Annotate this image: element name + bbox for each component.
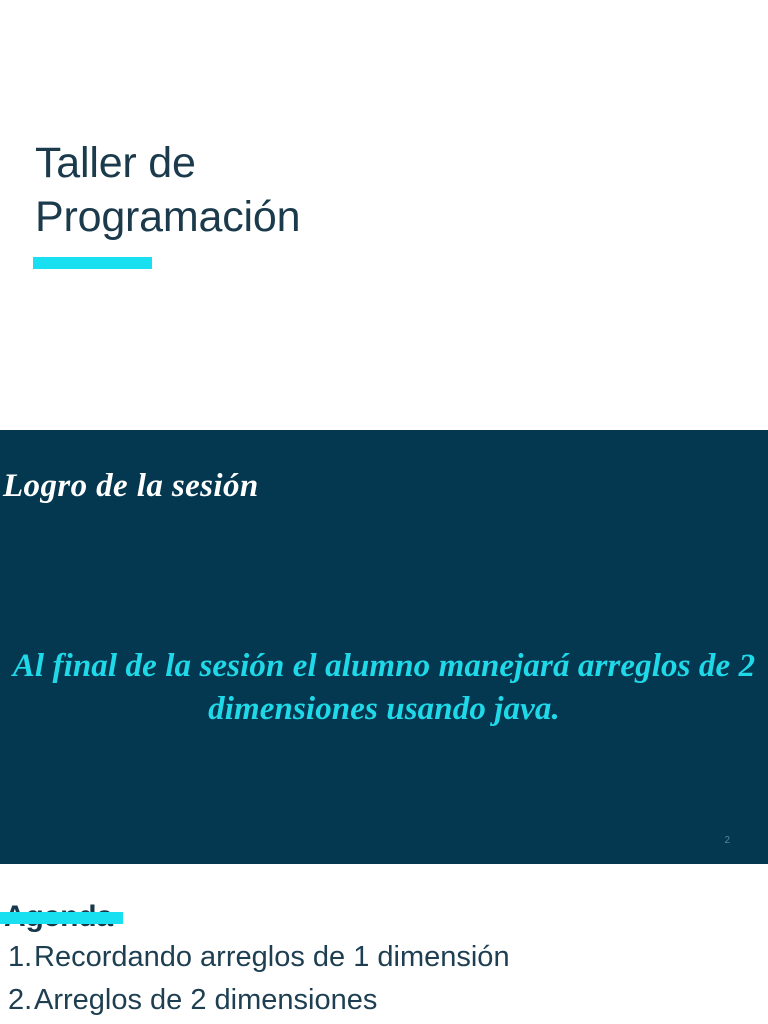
list-item-number: 1. — [0, 936, 34, 979]
agenda-slide: Agenda 1. Recordando arreglos de 1 dimen… — [0, 864, 768, 1024]
list-item: 1. Recordando arreglos de 1 dimensión — [0, 936, 768, 979]
list-item-number: 2. — [0, 979, 34, 1022]
objective-slide: Logro de la sesión Al final de la sesión… — [0, 430, 768, 864]
title-accent-bar — [33, 257, 152, 269]
objective-body-text: Al final de la sesión el alumno manejará… — [10, 645, 758, 731]
agenda-accent-bar — [0, 912, 123, 924]
agenda-list: 1. Recordando arreglos de 1 dimensión 2.… — [0, 936, 768, 1022]
title-slide: Taller de Programación — [0, 0, 768, 430]
page-title: Taller de Programación — [35, 136, 695, 244]
list-item-label: Arreglos de 2 dimensiones — [34, 979, 768, 1022]
list-item-label: Recordando arreglos de 1 dimensión — [34, 936, 768, 979]
objective-heading: Logro de la sesión — [3, 466, 259, 506]
slide-number: 2 — [724, 835, 730, 846]
list-item: 2. Arreglos de 2 dimensiones — [0, 979, 768, 1022]
